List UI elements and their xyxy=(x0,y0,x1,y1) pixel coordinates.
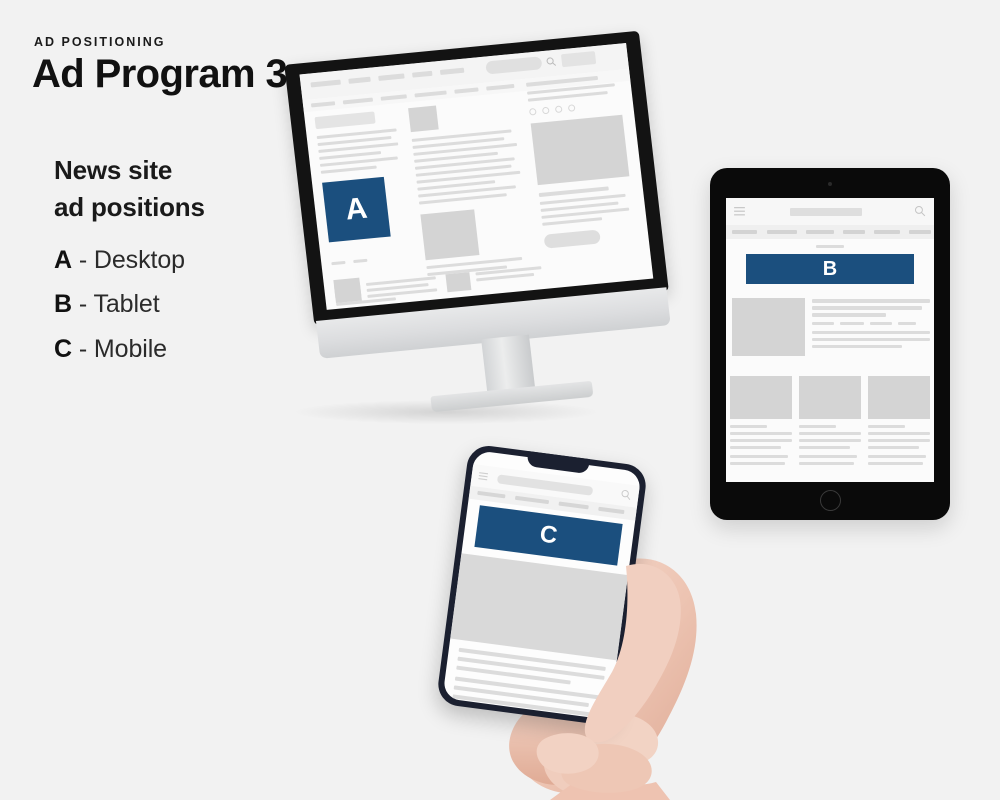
legend-label-desktop: Desktop xyxy=(94,246,185,274)
hamburger-menu-icon[interactable] xyxy=(734,207,745,216)
ad-slot-b[interactable]: B xyxy=(746,254,914,284)
monitor-bezel: A xyxy=(284,31,669,325)
social-icons-row[interactable] xyxy=(529,99,633,116)
ad-slot-a[interactable]: A xyxy=(322,177,391,243)
mobile-hero-image xyxy=(450,553,628,660)
phone-screen: C xyxy=(442,450,641,720)
home-button-icon[interactable] xyxy=(820,490,841,511)
legend-label-tablet: Tablet xyxy=(93,290,159,318)
card-item[interactable] xyxy=(868,376,930,465)
eyebrow-label: AD POSITIONING xyxy=(34,35,165,49)
page-title: Ad Program 3 xyxy=(32,52,287,97)
legend-key-a: A xyxy=(54,246,72,274)
monitor-screen: A xyxy=(299,43,653,310)
mobile-phone-group: C xyxy=(430,448,710,800)
tablet-header xyxy=(726,198,934,225)
social-circle-icon[interactable] xyxy=(529,108,537,116)
poster-canvas: AD POSITIONING Ad Program 3 News site ad… xyxy=(0,0,1000,800)
ad-label-a: A xyxy=(344,192,369,228)
search-icon[interactable] xyxy=(620,489,632,501)
desktop-monitor: A xyxy=(278,30,684,374)
social-circle-icon[interactable] xyxy=(555,105,563,113)
legend-dash-a: - xyxy=(79,246,87,274)
search-icon[interactable] xyxy=(914,205,926,217)
tablet-card-grid xyxy=(730,376,930,465)
hamburger-menu-icon[interactable] xyxy=(478,472,488,481)
desktop-account-button[interactable] xyxy=(561,51,596,67)
card-item[interactable] xyxy=(799,376,861,465)
desktop-middle-column xyxy=(408,97,539,276)
legend-dash-c: - xyxy=(79,335,87,363)
social-circle-icon[interactable] xyxy=(568,104,576,112)
tablet-search-input[interactable] xyxy=(790,208,862,216)
desktop-cta-button[interactable] xyxy=(544,229,601,248)
card-item[interactable] xyxy=(730,376,792,465)
social-circle-icon[interactable] xyxy=(542,107,550,115)
tablet-nav xyxy=(726,225,934,239)
tablet-device: B xyxy=(710,168,950,520)
legend-key-c: C xyxy=(54,335,72,363)
ad-label-c: C xyxy=(538,520,559,550)
ad-label-b: B xyxy=(823,258,837,281)
desktop-right-sidebar xyxy=(526,73,649,249)
mobile-phone: C xyxy=(436,443,649,726)
monitor-stand-neck xyxy=(481,335,535,395)
search-icon[interactable] xyxy=(545,56,557,68)
legend-dash-b: - xyxy=(79,290,87,318)
front-camera-icon xyxy=(828,182,832,186)
desktop-search-input[interactable] xyxy=(485,56,542,74)
legend-key-b: B xyxy=(54,290,72,318)
legend-label-mobile: Mobile xyxy=(94,335,167,363)
tablet-screen: B xyxy=(726,198,934,482)
